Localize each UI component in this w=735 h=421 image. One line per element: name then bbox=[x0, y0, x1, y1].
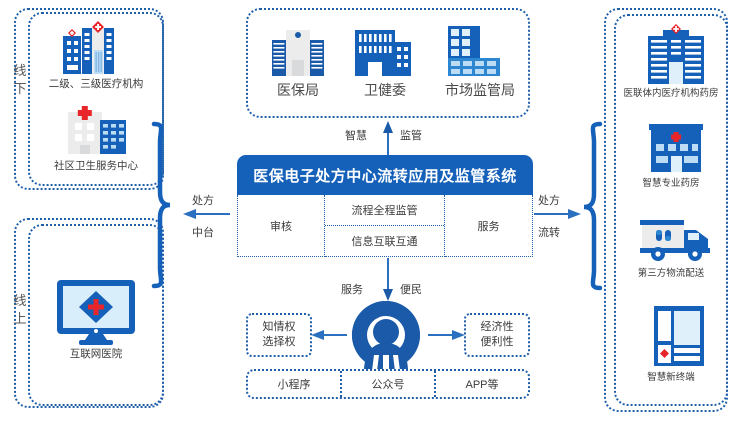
system-title: 医保电子处方中心流转应用及监管系统 bbox=[253, 165, 517, 186]
online-side-label: 线上 bbox=[9, 292, 31, 327]
offline-item-0-label: 二级、三级医疗机构 bbox=[28, 78, 164, 91]
arrow-left-to-offline bbox=[182, 208, 232, 220]
hospital-buildings-icon bbox=[62, 22, 134, 74]
citizen-right-line2: 选择权 bbox=[263, 335, 296, 350]
prescription-right-top-label: 处方 bbox=[538, 192, 560, 208]
arrow-citizen-left bbox=[310, 329, 348, 341]
regulator-2-label: 市场监管局 bbox=[430, 82, 530, 100]
smart-supervision-right-label: 监管 bbox=[400, 127, 422, 143]
left-curly-brace bbox=[148, 120, 176, 290]
tower-building-icon bbox=[442, 24, 504, 76]
arrow-down-to-citizen bbox=[381, 258, 395, 302]
office-building-icon bbox=[353, 24, 413, 76]
smart-supervision-left-label: 智慧 bbox=[345, 127, 367, 143]
channel-item-0[interactable]: 小程序 bbox=[248, 371, 342, 397]
person-avatar-icon bbox=[343, 299, 429, 371]
system-title-bar: 医保电子处方中心流转应用及监管系统 bbox=[237, 155, 533, 195]
channel-item-1[interactable]: 公众号 bbox=[342, 371, 436, 397]
prescription-left-top-label: 处方 bbox=[192, 192, 214, 208]
pharmacy-store-icon bbox=[645, 122, 707, 172]
prescription-left-bottom-label: 中台 bbox=[192, 224, 214, 240]
system-col-service: 服务 bbox=[445, 195, 533, 257]
community-clinic-icon bbox=[62, 106, 132, 154]
citizen-benefit-line1: 经济性 bbox=[481, 320, 514, 335]
internet-hospital-monitor-icon bbox=[55, 278, 137, 346]
arrow-citizen-right bbox=[428, 329, 466, 341]
online-item-0-label: 互联网医院 bbox=[28, 348, 164, 361]
delivery-truck-icon bbox=[638, 218, 714, 264]
diagram-canvas: 线下 bbox=[0, 0, 735, 421]
prescription-right-bottom-label: 流转 bbox=[538, 224, 560, 240]
system-capability-grid: 审核 流程全程监管 信息互联互通 服务 bbox=[237, 195, 533, 257]
system-col-review: 审核 bbox=[237, 195, 325, 257]
pharmacy-item-1-label: 智慧专业药房 bbox=[614, 178, 728, 190]
pharmacy-item-3-label: 智慧新终端 bbox=[614, 372, 728, 384]
right-curly-brace bbox=[578, 120, 606, 292]
pharmacy-item-2-label: 第三方物流配送 bbox=[614, 268, 728, 280]
arrow-up-to-regulators bbox=[381, 120, 395, 158]
citizen-benefit-line2: 便利性 bbox=[481, 335, 514, 350]
offline-item-1-label: 社区卫生服务中心 bbox=[28, 160, 164, 173]
citizen-benefits-box: 经济性 便利性 bbox=[464, 313, 530, 357]
citizen-rights-box: 知情权 选择权 bbox=[246, 313, 312, 357]
system-col-middle: 流程全程监管 信息互联互通 bbox=[325, 195, 445, 257]
service-benefit-right-label: 便民 bbox=[400, 281, 422, 297]
arrow-right-to-pharmacy bbox=[534, 208, 582, 220]
system-middle-bottom: 信息互联互通 bbox=[325, 226, 444, 256]
vending-terminal-icon bbox=[653, 305, 705, 367]
citizen-channels-row: 小程序 公众号 APP等 bbox=[246, 369, 530, 399]
hospital-pharmacy-icon bbox=[640, 24, 712, 84]
regulator-0-label: 医保局 bbox=[256, 82, 340, 100]
service-benefit-left-label: 服务 bbox=[341, 281, 363, 297]
channel-item-2[interactable]: APP等 bbox=[436, 371, 528, 397]
pharmacy-item-0-label: 医联体内医疗机构药房 bbox=[614, 88, 728, 100]
system-middle-top: 流程全程监管 bbox=[325, 195, 444, 226]
citizen-right-line1: 知情权 bbox=[263, 320, 296, 335]
regulator-1-label: 卫健委 bbox=[344, 82, 426, 100]
government-building-icon bbox=[270, 24, 326, 76]
